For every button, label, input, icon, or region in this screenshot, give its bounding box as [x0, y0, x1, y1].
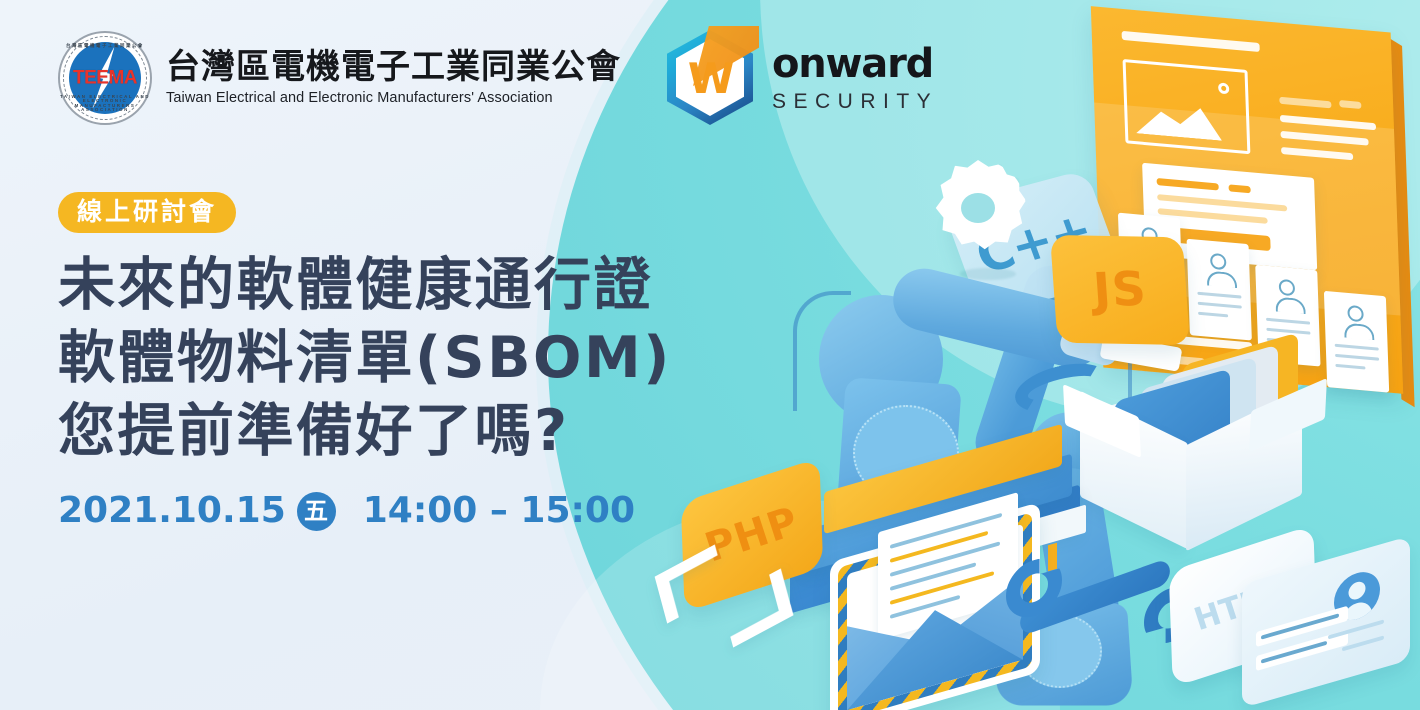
- teema-name-en: Taiwan Electrical and Electronic Manufac…: [166, 91, 621, 107]
- panel-person-card: [1187, 239, 1252, 341]
- js-card-label: JS: [1092, 266, 1149, 315]
- webinar-type-badge: 線上研討會: [58, 192, 236, 233]
- panel-bar: [1266, 328, 1310, 335]
- teema-seal-icon: 台灣區電機電子工業同業公會 TEEMA TAIWAN ELECTRICAL AN…: [58, 31, 152, 125]
- bracket-right: [721, 568, 794, 647]
- panel-bar: [1335, 344, 1379, 351]
- seal-arc-top-text: 台灣區電機電子工業同業公會: [58, 44, 152, 48]
- teema-name-zh: 台灣區電機電子工業同業公會: [166, 48, 621, 86]
- panel-bar: [1198, 312, 1228, 318]
- panel-bar: [1198, 302, 1242, 309]
- js-language-card: JS: [1050, 235, 1190, 345]
- teema-name-block: 台灣區電機電子工業同業公會 Taiwan Electrical and Elec…: [166, 48, 621, 107]
- panel-bar: [1339, 100, 1361, 109]
- event-date: 2021.10.15: [58, 493, 286, 529]
- panel-bar: [1157, 178, 1219, 190]
- code-brackets-icon: [660, 552, 790, 648]
- seal-arc-bottom-text: TAIWAN ELECTRICAL AND ELECTRONIC MANUFAC…: [58, 95, 152, 113]
- panel-bar: [1335, 354, 1379, 361]
- sun-icon: [1218, 82, 1229, 94]
- panel-bar: [1229, 184, 1251, 193]
- avatar-icon: [1210, 253, 1227, 270]
- event-time: 14:00 – 15:00: [363, 493, 635, 529]
- event-weekday-badge: 五: [297, 492, 336, 531]
- profile-rule: [1342, 635, 1384, 651]
- panel-title-bar: [1122, 31, 1260, 52]
- teema-logo: 台灣區電機電子工業同業公會 TEEMA TAIWAN ELECTRICAL AN…: [58, 31, 621, 125]
- webinar-banner: 台灣區電機電子工業同業公會 TEEMA TAIWAN ELECTRICAL AN…: [0, 0, 1420, 710]
- panel-bar: [1197, 292, 1241, 299]
- panel-bar: [1266, 318, 1310, 325]
- avatar-icon: [1347, 305, 1364, 322]
- panel-image-thumb: [1123, 59, 1251, 154]
- illustration: C++ JS: [640, 0, 1420, 710]
- bracket-left: [655, 544, 728, 623]
- panel-bar: [1279, 97, 1331, 109]
- seal-wordmark: TEEMA: [58, 68, 152, 87]
- mountain-icon: [1135, 99, 1222, 141]
- avatar-icon: [1279, 279, 1296, 296]
